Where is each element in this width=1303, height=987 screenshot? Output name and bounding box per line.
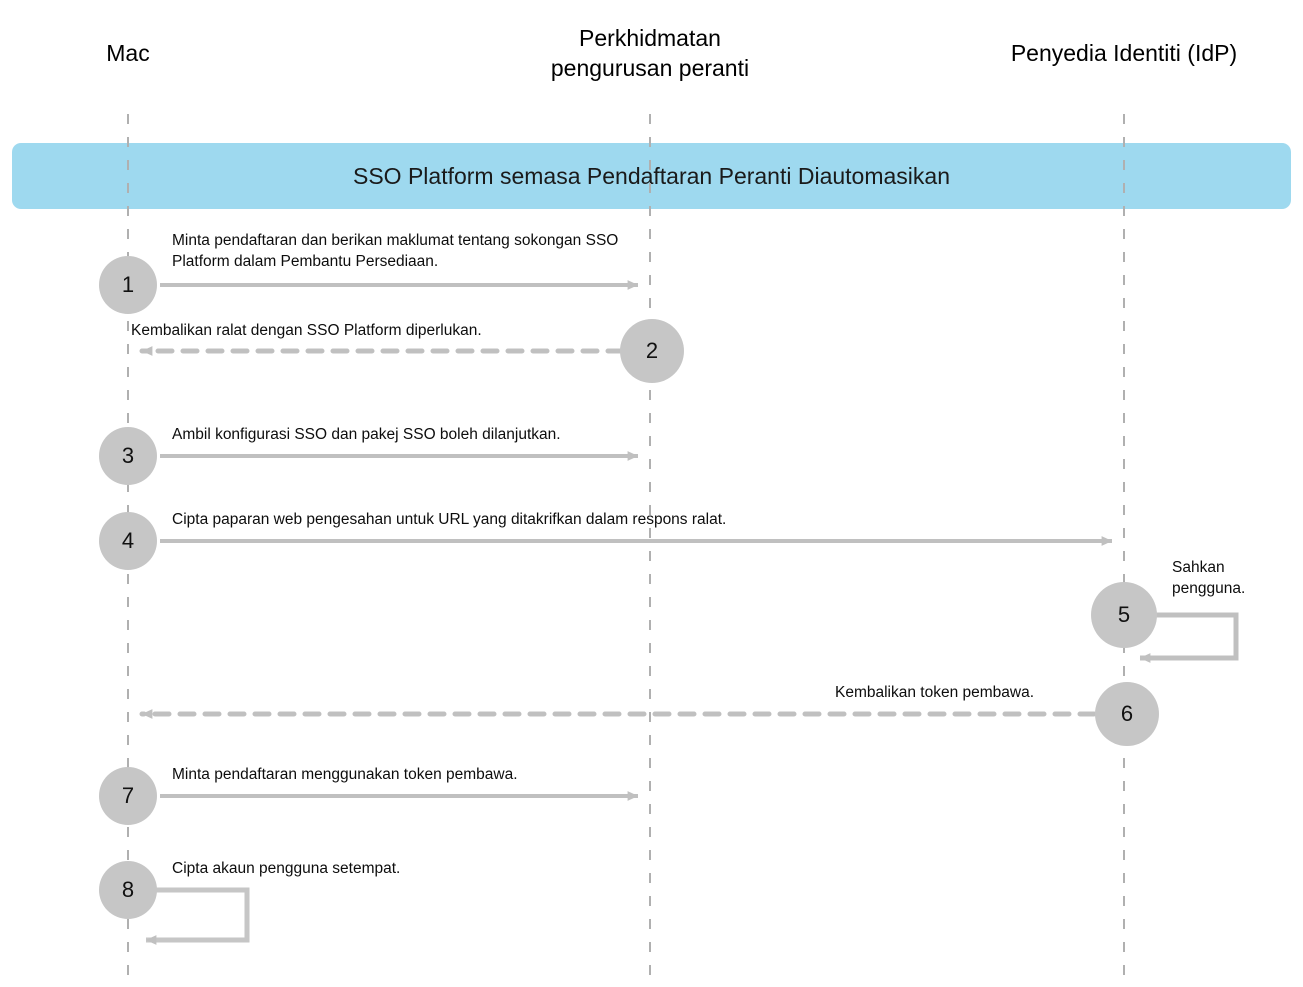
diagram-canvas <box>0 0 1303 987</box>
step-number-4: 4 <box>108 530 148 552</box>
step-number-8: 8 <box>108 879 148 901</box>
message-label-5: Sahkan pengguna. <box>1172 557 1302 599</box>
message-label-8: Cipta akaun pengguna setempat. <box>172 858 672 879</box>
step-number-6: 6 <box>1107 703 1147 725</box>
message-label-2: Kembalikan ralat dengan SSO Platform dip… <box>131 320 691 341</box>
step-number-1: 1 <box>108 274 148 296</box>
message-label-3: Ambil konfigurasi SSO dan pakej SSO bole… <box>172 424 812 445</box>
message-arrow-8-self-loop <box>146 890 247 940</box>
step-number-5: 5 <box>1104 604 1144 626</box>
message-label-6: Kembalikan token pembawa. <box>835 682 1105 703</box>
step-number-3: 3 <box>108 445 148 467</box>
message-label-7: Minta pendaftaran menggunakan token pemb… <box>172 764 732 785</box>
sequence-diagram: Mac Perkhidmatan pengurusan peranti Peny… <box>0 0 1303 987</box>
step-number-2: 2 <box>632 340 672 362</box>
step-number-7: 7 <box>108 785 148 807</box>
message-label-4: Cipta paparan web pengesahan untuk URL y… <box>172 509 1012 530</box>
message-label-1: Minta pendaftaran dan berikan maklumat t… <box>172 230 852 272</box>
